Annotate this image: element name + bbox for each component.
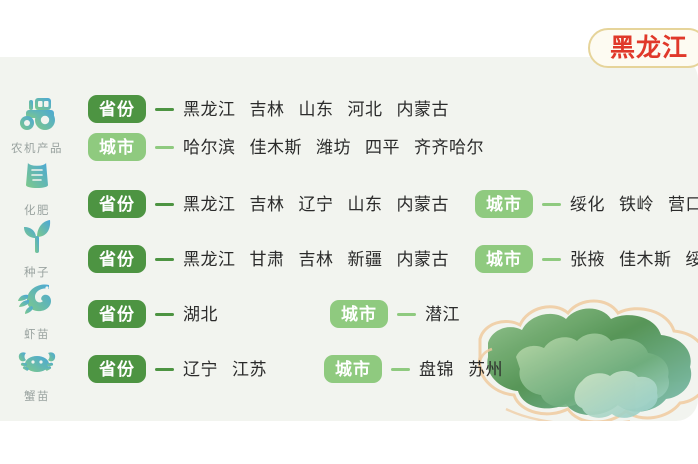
data-row-1: 省份 黑龙江吉林辽宁山东内蒙古 城市 绥化铁岭营口	[88, 190, 698, 218]
value-item: 内蒙古	[397, 250, 450, 269]
city-pill[interactable]: 城市	[88, 133, 146, 161]
connector-dash	[155, 108, 174, 111]
value-item: 甘肃	[250, 250, 285, 269]
data-row-0-city: 城市 哈尔滨佳木斯潍坊四平齐齐哈尔	[88, 133, 484, 161]
data-row-3: 省份 湖北 城市 潜江	[88, 300, 460, 328]
value-item: 内蒙古	[397, 100, 450, 119]
value-item: 辽宁	[183, 360, 218, 379]
value-item: 河北	[348, 100, 383, 119]
category-label-0: 农机产品	[11, 143, 63, 155]
data-row-4: 省份 辽宁江苏 城市 盘锦苏州	[88, 355, 503, 383]
value-item: 湖北	[183, 305, 218, 324]
value-item: 黑龙江	[183, 100, 236, 119]
connector-dash	[397, 313, 416, 316]
category-item-4[interactable]: 蟹苗	[0, 341, 74, 405]
value-item: 哈尔滨	[183, 138, 236, 157]
province-values: 黑龙江吉林山东河北内蒙古	[183, 101, 449, 118]
category-label-4: 蟹苗	[24, 391, 50, 403]
city-values: 盘锦苏州	[419, 361, 503, 378]
city-pill[interactable]: 城市	[330, 300, 388, 328]
city-values: 哈尔滨佳木斯潍坊四平齐齐哈尔	[183, 139, 484, 156]
value-item: 江苏	[232, 360, 267, 379]
connector-dash	[155, 203, 174, 206]
province-pill[interactable]: 省份	[88, 300, 146, 328]
province-highlight-label: 黑龙江	[610, 36, 688, 61]
value-item: 黑龙江	[183, 250, 236, 269]
province-pill[interactable]: 省份	[88, 245, 146, 273]
value-item: 盘锦	[419, 360, 454, 379]
value-item: 山东	[348, 195, 383, 214]
connector-dash	[542, 203, 561, 206]
city-values: 张掖佳木斯绥	[570, 251, 698, 268]
value-item: 苏州	[468, 360, 503, 379]
value-item: 吉林	[250, 195, 285, 214]
value-item: 绥	[686, 250, 698, 269]
value-item: 营口	[668, 195, 698, 214]
province-pill[interactable]: 省份	[88, 190, 146, 218]
value-item: 潍坊	[316, 138, 351, 157]
decorative-cloud-illustration	[462, 257, 698, 421]
city-values: 绥化铁岭营口	[570, 196, 698, 213]
category-label-3: 虾苗	[24, 329, 50, 341]
category-item-3[interactable]: 虾苗	[0, 279, 74, 343]
data-row-2: 省份 黑龙江甘肃吉林新疆内蒙古 城市 张掖佳木斯绥	[88, 245, 698, 273]
province-values: 黑龙江甘肃吉林新疆内蒙古	[183, 251, 449, 268]
value-item: 四平	[365, 138, 400, 157]
seedling-icon	[0, 217, 74, 259]
province-values: 辽宁江苏	[183, 361, 267, 378]
province-values: 黑龙江吉林辽宁山东内蒙古	[183, 196, 449, 213]
value-item: 张掖	[570, 250, 605, 269]
value-item: 佳木斯	[250, 138, 303, 157]
category-label-2: 种子	[24, 267, 50, 279]
fertilizer-bag-icon	[0, 155, 74, 197]
connector-dash	[391, 368, 410, 371]
city-pill[interactable]: 城市	[475, 245, 533, 273]
category-item-2[interactable]: 种子	[0, 217, 74, 281]
shrimp-icon	[0, 279, 74, 321]
city-pill[interactable]: 城市	[324, 355, 382, 383]
value-item: 山东	[299, 100, 334, 119]
category-item-0[interactable]: 农机产品	[0, 93, 74, 157]
value-item: 辽宁	[299, 195, 334, 214]
value-item: 潜江	[425, 305, 460, 324]
value-item: 佳木斯	[619, 250, 672, 269]
connector-dash	[155, 146, 174, 149]
province-values: 湖北	[183, 306, 218, 323]
category-item-1[interactable]: 化肥	[0, 155, 74, 219]
value-item: 内蒙古	[397, 195, 450, 214]
connector-dash	[155, 368, 174, 371]
data-row-0-province: 省份 黑龙江吉林山东河北内蒙古	[88, 95, 449, 123]
value-item: 吉林	[250, 100, 285, 119]
city-pill[interactable]: 城市	[475, 190, 533, 218]
crab-icon	[0, 341, 74, 383]
city-values: 潜江	[425, 306, 460, 323]
content-card: 农机产品 化肥	[0, 57, 698, 421]
value-item: 黑龙江	[183, 195, 236, 214]
value-item: 铁岭	[619, 195, 654, 214]
province-pill[interactable]: 省份	[88, 95, 146, 123]
province-pill[interactable]: 省份	[88, 355, 146, 383]
value-item: 齐齐哈尔	[414, 138, 484, 157]
value-item: 新疆	[348, 250, 383, 269]
connector-dash	[155, 313, 174, 316]
value-item: 吉林	[299, 250, 334, 269]
category-label-1: 化肥	[24, 205, 50, 217]
tractor-icon	[0, 93, 74, 135]
connector-dash	[542, 258, 561, 261]
value-item: 绥化	[570, 195, 605, 214]
screenshot-root: 农机产品 化肥	[0, 0, 698, 464]
connector-dash	[155, 258, 174, 261]
province-highlight-chip[interactable]: 黑龙江	[588, 28, 698, 68]
